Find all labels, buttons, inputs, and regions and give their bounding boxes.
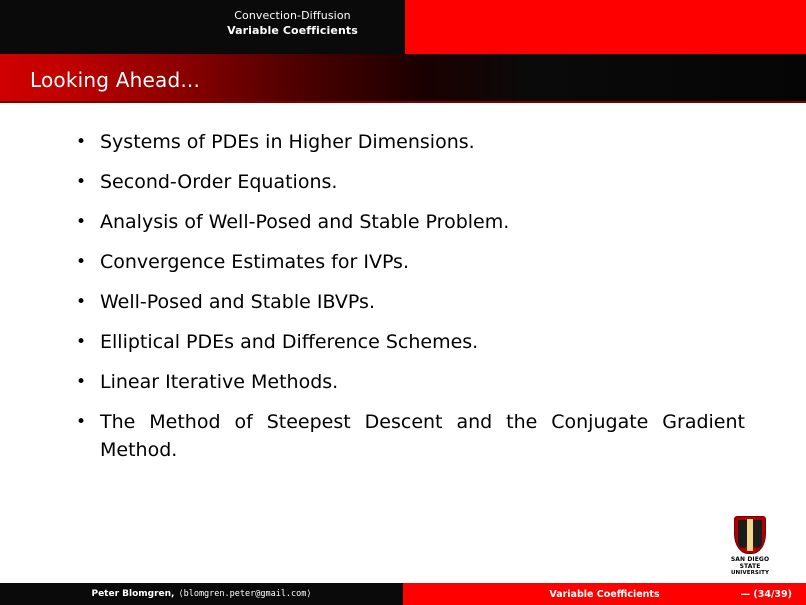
list-item: • Elliptical PDEs and Difference Schemes… — [0, 328, 806, 356]
slide: Convection-Diffusion Variable Coefficien… — [0, 0, 806, 605]
list-item-label: Systems of PDEs in Higher Dimensions. — [100, 128, 475, 156]
header-titles: Convection-Diffusion Variable Coefficien… — [180, 9, 405, 38]
footer-email: ⟨blomgren.peter@gmail.com⟩ — [178, 589, 311, 599]
list-item: • Systems of PDEs in Higher Dimensions. — [0, 128, 806, 156]
header-course-title: Convection-Diffusion — [180, 9, 405, 24]
list-item: • The Method of Steepest Descent and the… — [0, 408, 806, 464]
list-item-label: Well-Posed and Stable IBVPs. — [100, 288, 375, 316]
bullet-icon: • — [62, 248, 100, 276]
list-item: • Second-Order Equations. — [0, 168, 806, 196]
footer: Peter Blomgren, ⟨blomgren.peter@gmail.co… — [0, 583, 806, 605]
bullet-icon: • — [62, 288, 100, 316]
shield-icon — [734, 516, 766, 554]
logo-line2: UNIVERSITY — [720, 570, 780, 577]
list-item-label: The Method of Steepest Descent and the C… — [100, 408, 745, 464]
bullet-icon: • — [62, 168, 100, 196]
bullet-icon: • — [62, 368, 100, 396]
footer-page-number: — (34/39) — [741, 589, 792, 600]
list-item-label: Analysis of Well-Posed and Stable Proble… — [100, 208, 509, 236]
list-item: • Linear Iterative Methods. — [0, 368, 806, 396]
footer-author: Peter Blomgren, — [91, 589, 174, 599]
university-logo: SAN DIEGO STATE UNIVERSITY — [720, 516, 780, 577]
list-item-label: Second-Order Equations. — [100, 168, 337, 196]
page-title: Looking Ahead... — [30, 68, 200, 92]
list-item: • Convergence Estimates for IVPs. — [0, 248, 806, 276]
bullet-icon: • — [62, 408, 100, 436]
bullet-icon: • — [62, 128, 100, 156]
bullet-icon: • — [62, 328, 100, 356]
logo-line1: SAN DIEGO STATE — [720, 556, 780, 570]
bullet-icon: • — [62, 208, 100, 236]
list-item: • Well-Posed and Stable IBVPs. — [0, 288, 806, 316]
bullet-list: • Systems of PDEs in Higher Dimensions. … — [0, 128, 806, 476]
list-item: • Analysis of Well-Posed and Stable Prob… — [0, 208, 806, 236]
list-item-label: Elliptical PDEs and Difference Schemes. — [100, 328, 478, 356]
header-section-title: Variable Coefficients — [180, 24, 405, 39]
list-item-label: Linear Iterative Methods. — [100, 368, 338, 396]
footer-author-block: Peter Blomgren, ⟨blomgren.peter@gmail.co… — [0, 583, 403, 605]
list-item-label: Convergence Estimates for IVPs. — [100, 248, 409, 276]
title-underline — [0, 101, 806, 103]
footer-section-block: Variable Coefficients — (34/39) — [403, 583, 806, 605]
